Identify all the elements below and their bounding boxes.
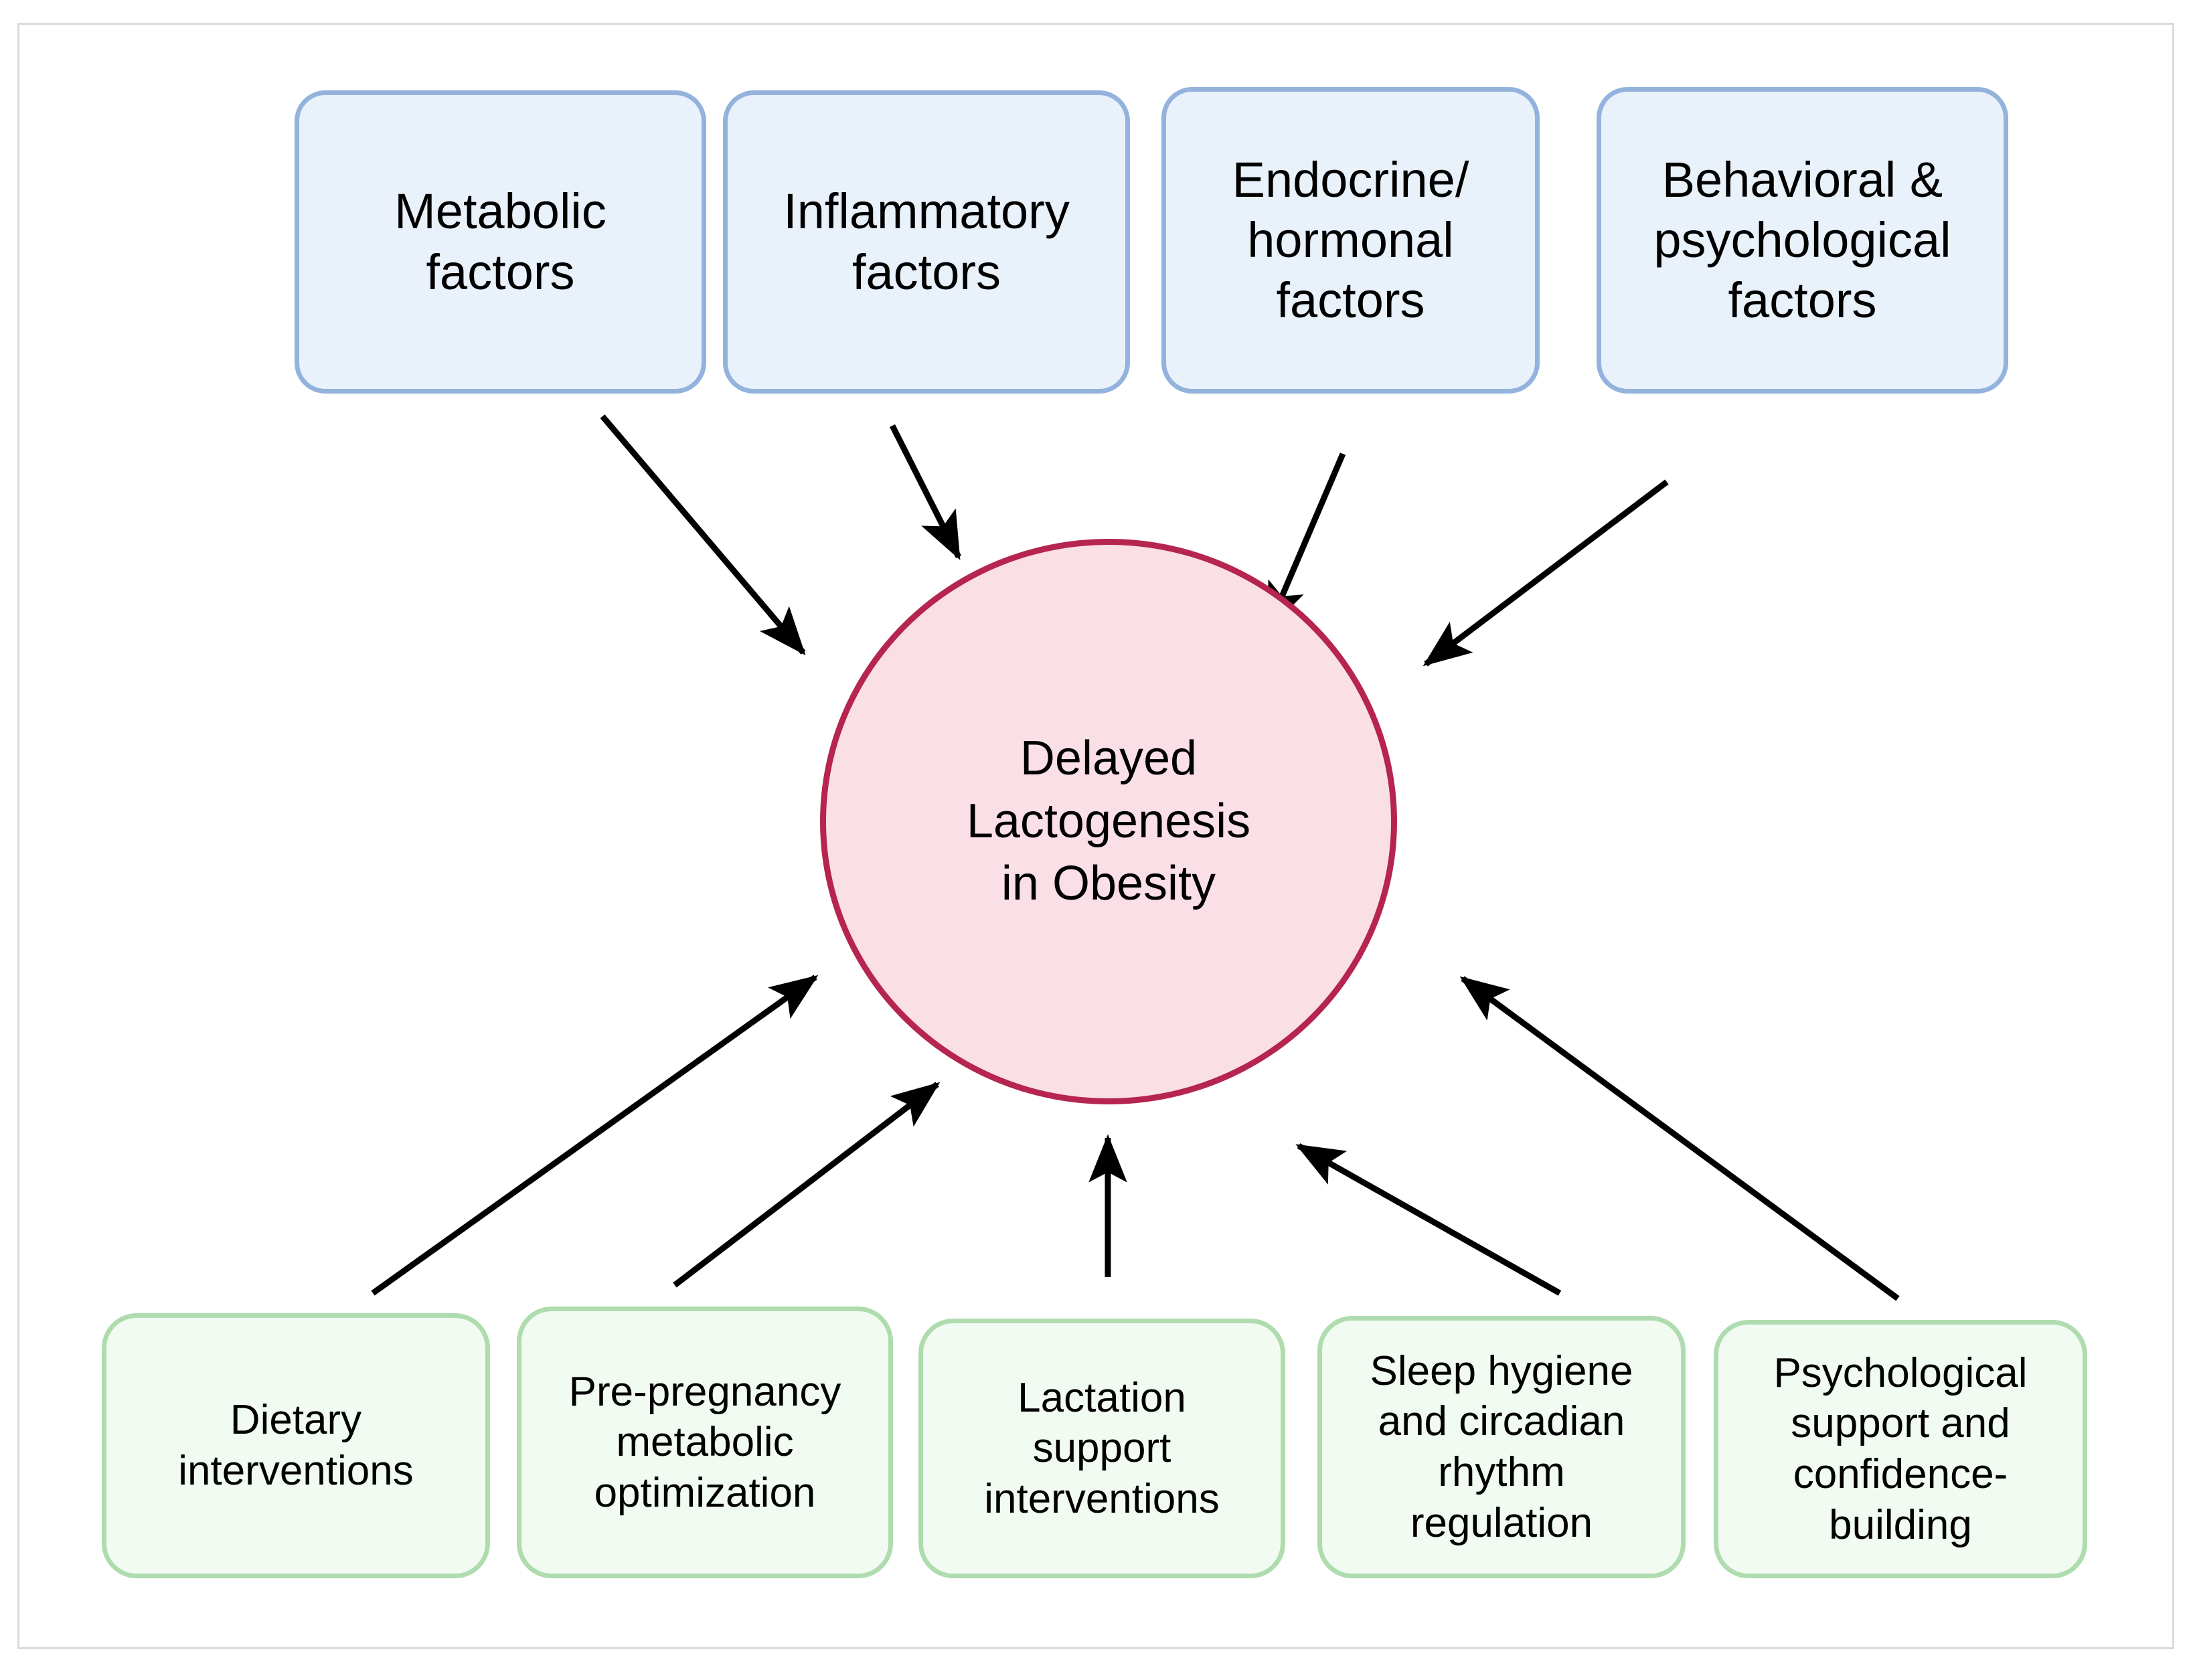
label-line: interventions — [178, 1446, 414, 1497]
label-line: Sleep hygiene — [1370, 1346, 1633, 1397]
node-pre-pregnancy-metabolic-optimization[interactable]: Pre-pregnancy metabolic optimization — [517, 1307, 893, 1578]
edge-metabolic-to-center — [602, 416, 803, 653]
label-line: regulation — [1370, 1498, 1633, 1549]
label-line: and circadian — [1370, 1396, 1633, 1447]
node-label: Endocrine/ hormonal factors — [1232, 150, 1469, 331]
node-label: Behavioral & psychological factors — [1653, 150, 1951, 331]
label-line: Inflammatory — [783, 181, 1070, 242]
node-endocrine-hormonal-factors[interactable]: Endocrine/ hormonal factors — [1161, 87, 1540, 394]
label-line: factors — [1653, 270, 1951, 331]
label-line: building — [1773, 1500, 2027, 1551]
edge-prepregnancy-to-center — [675, 1084, 937, 1285]
label-line: Pre-pregnancy — [569, 1367, 841, 1418]
label-line: psychological — [1653, 210, 1951, 270]
label-line: interventions — [984, 1474, 1220, 1525]
node-label: Inflammatory factors — [783, 181, 1070, 303]
node-sleep-hygiene-circadian-rhythm-regulation[interactable]: Sleep hygiene and circadian rhythm regul… — [1317, 1316, 1686, 1578]
diagram-canvas: Metabolic factors Inflammatory factors E… — [0, 0, 2193, 1680]
label-line: Endocrine/ — [1232, 150, 1469, 210]
label-line: rhythm — [1370, 1447, 1633, 1498]
node-metabolic-factors[interactable]: Metabolic factors — [295, 90, 706, 394]
label-line: in Obesity — [967, 853, 1250, 916]
label-line: Psychological — [1773, 1348, 2027, 1399]
label-line: Behavioral & — [1653, 150, 1951, 210]
label-line: confidence- — [1773, 1449, 2027, 1500]
node-inflammatory-factors[interactable]: Inflammatory factors — [723, 90, 1130, 394]
edge-behavioral-to-center — [1426, 482, 1667, 664]
label-line: metabolic — [569, 1417, 841, 1468]
node-delayed-lactogenesis-in-obesity[interactable]: Delayed Lactogenesis in Obesity — [820, 539, 1397, 1104]
edge-dietary-to-center — [373, 977, 815, 1293]
node-label: Dietary interventions — [178, 1395, 414, 1496]
label-line: support — [984, 1423, 1220, 1474]
node-label: Metabolic factors — [394, 181, 606, 303]
node-dietary-interventions[interactable]: Dietary interventions — [102, 1313, 490, 1578]
label-line: Metabolic — [394, 181, 606, 242]
label-line: Delayed — [967, 728, 1250, 790]
node-behavioral-psychological-factors[interactable]: Behavioral & psychological factors — [1597, 87, 2008, 394]
label-line: hormonal — [1232, 210, 1469, 270]
label-line: factors — [783, 242, 1070, 303]
label-line: factors — [1232, 270, 1469, 331]
edge-sleep-to-center — [1299, 1146, 1560, 1293]
node-lactation-support-interventions[interactable]: Lactation support interventions — [918, 1319, 1285, 1578]
node-label: Delayed Lactogenesis in Obesity — [967, 728, 1250, 916]
node-psychological-support-confidence-building[interactable]: Psychological support and confidence- bu… — [1714, 1320, 2087, 1578]
label-line: Lactogenesis — [967, 790, 1250, 853]
edge-psychological-to-center — [1463, 979, 1898, 1298]
label-line: support and — [1773, 1398, 2027, 1449]
label-line: factors — [394, 242, 606, 303]
label-line: optimization — [569, 1468, 841, 1519]
edge-inflammatory-to-center — [892, 426, 959, 557]
node-label: Lactation support interventions — [984, 1373, 1220, 1525]
label-line: Lactation — [984, 1373, 1220, 1424]
node-label: Psychological support and confidence- bu… — [1773, 1348, 2027, 1551]
label-line: Dietary — [178, 1395, 414, 1446]
node-label: Pre-pregnancy metabolic optimization — [569, 1367, 841, 1519]
node-label: Sleep hygiene and circadian rhythm regul… — [1370, 1346, 1633, 1549]
